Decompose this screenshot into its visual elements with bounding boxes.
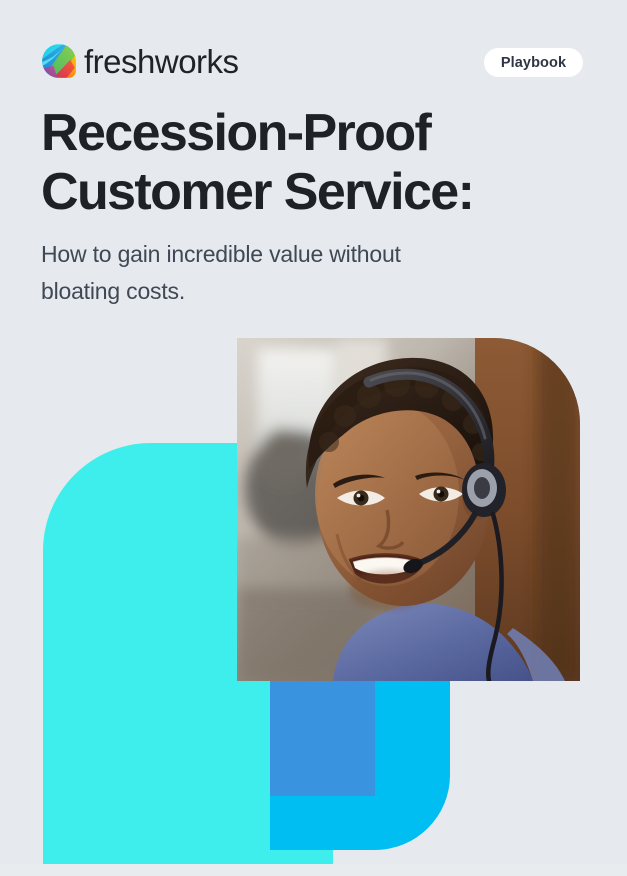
cover-graphic xyxy=(0,320,627,876)
freshworks-logo-mark xyxy=(41,43,77,79)
blue-overlap-square-shape xyxy=(270,681,375,796)
freshworks-wordmark: freshworks xyxy=(84,45,239,78)
page-title: Recession-Proof Customer Service: xyxy=(41,104,561,222)
playbook-cover-page: freshworks Playbook Recession-Proof Cust… xyxy=(0,0,627,876)
cover-header: freshworks Playbook xyxy=(0,0,627,100)
freshworks-logo: freshworks xyxy=(41,43,239,79)
playbook-badge: Playbook xyxy=(484,48,583,77)
page-subtitle-line-1: How to gain incredible value without xyxy=(41,236,511,273)
page-subtitle: How to gain incredible value without blo… xyxy=(41,236,511,310)
support-agent-photo xyxy=(237,338,580,681)
page-subtitle-line-2: bloating costs. xyxy=(41,273,511,310)
page-title-line-2: Customer Service: xyxy=(41,163,561,222)
page-bottom-band xyxy=(0,864,627,876)
playbook-badge-label: Playbook xyxy=(501,55,566,71)
page-title-line-1: Recession-Proof xyxy=(41,104,561,163)
